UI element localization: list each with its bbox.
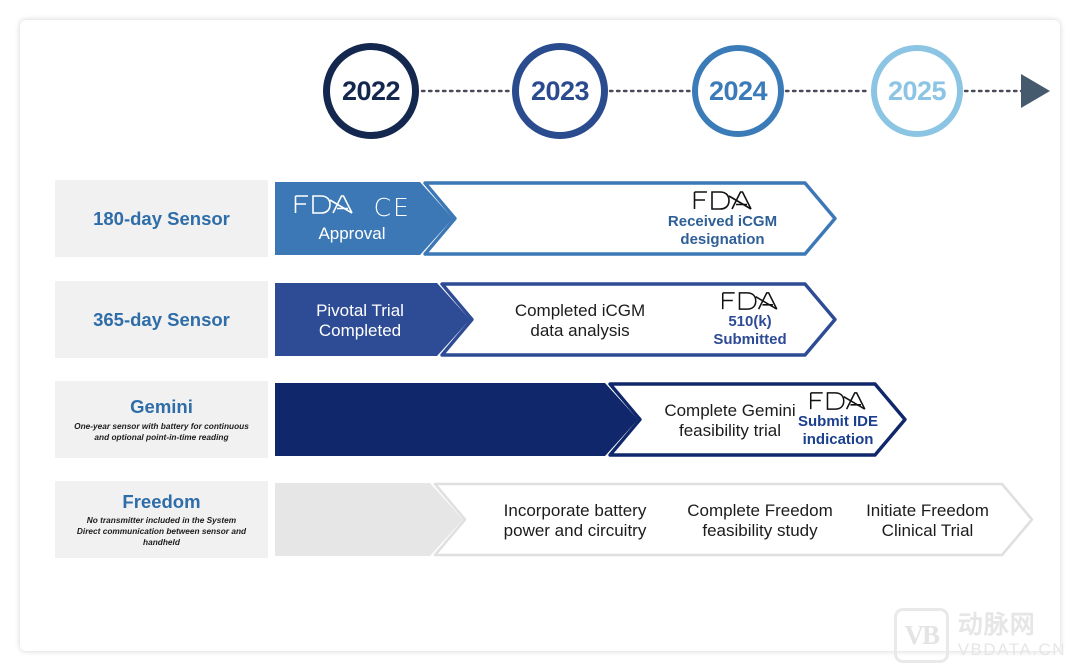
segment-text-icgm-analysis: Completed iCGM data analysis (485, 301, 675, 341)
fda-group-180-right (660, 189, 785, 212)
watermark-text: 动脉网 VBDATA.CN (958, 613, 1066, 658)
ce-mark-icon: CE (374, 193, 411, 222)
fda-logo-icon (720, 290, 780, 312)
row-label-title: Gemini (130, 396, 193, 417)
segment-fill-gemini[interactable] (275, 383, 638, 456)
row-bar-freedom: Incorporate battery power and circuitry … (275, 481, 1037, 558)
fda-ce-group-180: CE (287, 193, 417, 222)
segment-fill-freedom[interactable] (275, 483, 463, 556)
row-bar-365-day-sensor: Pivotal Trial Completed Completed iCGM d… (275, 281, 840, 358)
row-bar-gemini: Complete Gemini feasibility trial Submit… (275, 381, 910, 458)
row-label-title: 365-day Sensor (93, 309, 230, 330)
year-label-2024: 2024 (709, 76, 767, 107)
segment-text-complete-freedom: Complete Freedom feasibility study (665, 501, 855, 541)
row-label-freedom: Freedom No transmitter included in the S… (55, 481, 268, 558)
watermark-logo-icon: VB (894, 608, 949, 663)
row-label-title: 180-day Sensor (93, 208, 230, 229)
row-label-subtitle: One-year sensor with battery for continu… (68, 421, 255, 443)
watermark-latin-text: VBDATA.CN (958, 641, 1066, 658)
row-label-365-day-sensor: 365-day Sensor (55, 281, 268, 358)
fda-group-gemini (783, 390, 893, 412)
watermark: VB 动脉网 VBDATA.CN (894, 608, 1066, 663)
year-label-2025: 2025 (888, 76, 946, 107)
segment-text-incorporate-battery: Incorporate battery power and circuitry (475, 501, 675, 541)
row-bar-180-day-sensor: CE Approval Received iCGM designation (275, 180, 840, 257)
row-label-180-day-sensor: 180-day Sensor (55, 180, 268, 257)
year-circle-2023[interactable]: 2023 (512, 43, 608, 139)
segment-text-initiate-freedom: Initiate Freedom Clinical Trial (840, 501, 1015, 541)
fda-logo-icon (692, 189, 754, 212)
fda-logo-icon (808, 390, 868, 412)
segment-text-submit-ide: Submit IDE indication (783, 413, 893, 448)
row-label-gemini: Gemini One-year sensor with battery for … (55, 381, 268, 458)
segment-text-pivotal-trial: Pivotal Trial Completed (285, 301, 435, 341)
row-label-subtitle: No transmitter included in the System Di… (71, 515, 252, 548)
year-circle-2025[interactable]: 2025 (871, 45, 963, 137)
year-circle-2022[interactable]: 2022 (323, 43, 419, 139)
segment-text-510k-submitted: 510(k) Submitted (695, 313, 805, 348)
watermark-cn-text: 动脉网 (958, 613, 1066, 638)
fda-group-365 (695, 290, 805, 312)
segment-text-icgm-designation: Received iCGM designation (660, 213, 785, 248)
year-circle-2024[interactable]: 2024 (692, 45, 784, 137)
row-label-title: Freedom (122, 491, 200, 512)
fda-logo-icon (293, 193, 355, 216)
segment-text-approval: Approval (287, 224, 417, 244)
year-label-2023: 2023 (531, 76, 589, 107)
year-label-2022: 2022 (342, 76, 400, 107)
